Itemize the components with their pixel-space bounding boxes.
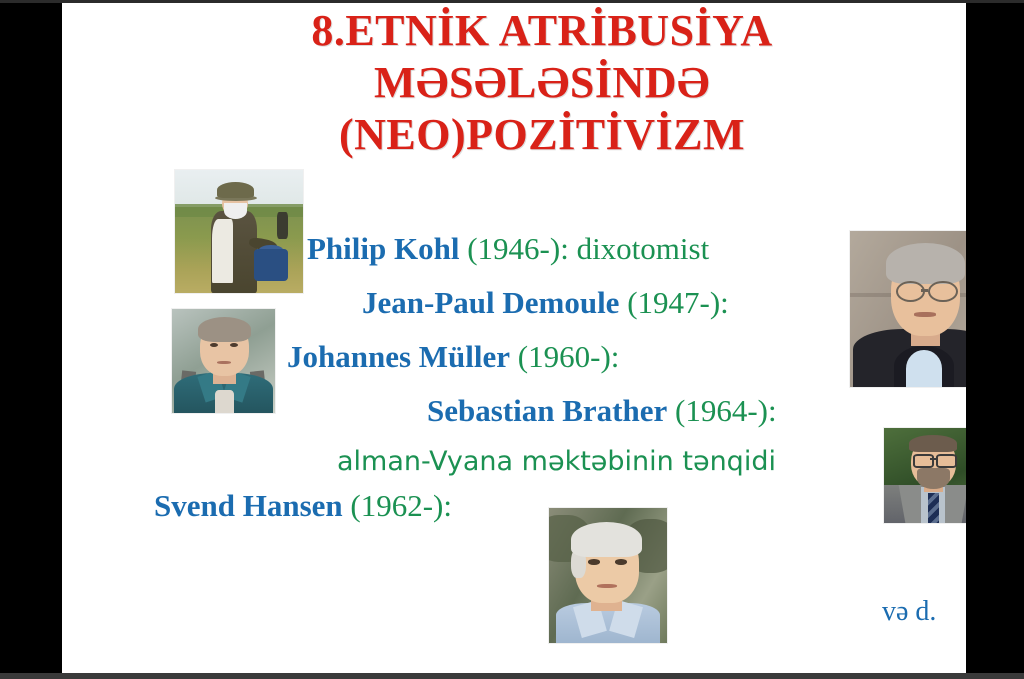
photo-eye-left — [588, 559, 600, 564]
entry-name-philip-kohl: Philip Kohl — [307, 231, 459, 266]
photo-eyeglass-right — [936, 454, 957, 468]
entry-name-johannes-muller: Johannes Müller — [287, 339, 510, 374]
entry-line-svend-hansen: Svend Hansen (1962-): — [154, 489, 452, 523]
entry-line-jean-paul-demoule: Jean-Paul Demoule (1947-): — [362, 286, 729, 320]
svend-hansen-photo — [549, 508, 667, 643]
entry-detail-svend-hansen: (1962-): — [343, 488, 452, 523]
photo-hair-layer — [198, 317, 252, 342]
photo-hat-layer — [217, 182, 254, 198]
photo-tripod-layer — [277, 212, 287, 239]
slide-title-line-1: 8.ETNİK ATRİBUSİYA — [192, 5, 892, 57]
johannes-muller-photo — [172, 309, 275, 413]
photo-shirt-layer — [906, 350, 942, 387]
letterbox-bar-right — [966, 0, 1024, 679]
entry-name-svend-hansen: Svend Hansen — [154, 488, 343, 523]
photo-shirt-layer — [212, 219, 232, 283]
photo-goatee-layer — [917, 468, 949, 489]
entry-detail-johannes-muller: (1960-): — [510, 339, 619, 374]
critique-note-text: alman-Vyana məktəbinin tənqidi — [337, 446, 776, 477]
entry-detail-jean-paul-demoule: (1947-): — [619, 285, 728, 320]
critique-note: alman-Vyana məktəbinin tənqidi — [337, 443, 776, 479]
slide-root: 8.ETNİK ATRİBUSİYA MƏSƏLƏSİNDƏ (NEO)POZİ… — [0, 0, 1024, 679]
photo-hair-layer — [886, 243, 966, 284]
photo-eyeglass-left — [913, 454, 934, 468]
slide-title: 8.ETNİK ATRİBUSİYA MƏSƏLƏSİNDƏ (NEO)POZİ… — [192, 5, 892, 161]
entry-line-sebastian-brather: Sebastian Brather (1964-): — [427, 394, 777, 428]
photo-hair-layer — [571, 522, 642, 557]
photo-mouth-layer — [914, 312, 936, 317]
jean-paul-demoule-photo — [850, 231, 966, 387]
letterbox-bar-left — [0, 0, 62, 679]
entry-line-johannes-muller: Johannes Müller (1960-): — [287, 340, 619, 374]
entry-name-sebastian-brather: Sebastian Brather — [427, 393, 667, 428]
sebastian-brather-photo — [884, 428, 966, 523]
etcetera-text: və d. — [882, 596, 936, 627]
slide-top-edge — [0, 0, 1024, 3]
slide-bottom-edge — [0, 673, 1024, 679]
photo-eyeglass-right — [928, 281, 957, 302]
entry-detail-sebastian-brather: (1964-): — [667, 393, 776, 428]
photo-hair-layer — [909, 435, 957, 452]
photo-beard-layer — [224, 203, 247, 219]
photo-eyeglass-bridge — [921, 289, 928, 292]
photo-undershirt-layer — [215, 390, 234, 413]
photo-striped-tie-layer — [928, 493, 939, 523]
slide-title-line-2: MƏSƏLƏSİNDƏ — [192, 57, 892, 109]
photo-mouth-layer — [597, 584, 617, 588]
entry-name-jean-paul-demoule: Jean-Paul Demoule — [362, 285, 619, 320]
photo-eyeglass-bridge — [930, 458, 936, 460]
photo-bag-layer — [254, 249, 287, 281]
photo-mouth-layer — [217, 361, 230, 364]
slide-title-line-3: (NEO)POZİTİVİZM — [192, 109, 892, 161]
slide-canvas: 8.ETNİK ATRİBUSİYA MƏSƏLƏSİNDƏ (NEO)POZİ… — [62, 3, 966, 673]
entry-detail-philip-kohl: (1946-): dixotomist — [459, 231, 709, 266]
philip-kohl-photo — [175, 170, 303, 293]
entry-line-philip-kohl: Philip Kohl (1946-): dixotomist — [307, 232, 709, 266]
etcetera-note: və d. — [882, 595, 936, 629]
photo-eye-right — [615, 559, 627, 564]
